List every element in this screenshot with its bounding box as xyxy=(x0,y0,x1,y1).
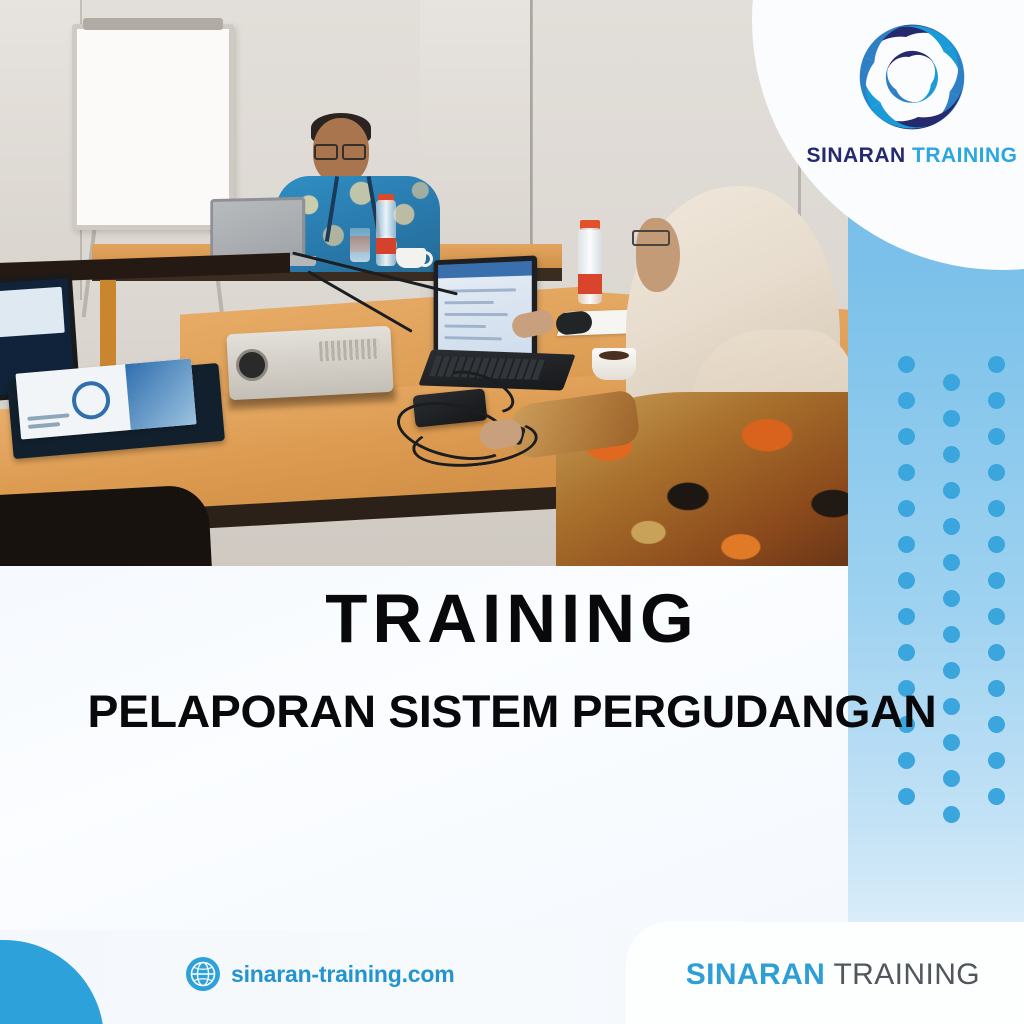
page-subtitle: PELAPORAN SISTEM PERGUDANGAN xyxy=(0,689,1024,734)
drinking-glass xyxy=(350,228,370,262)
globe-icon xyxy=(186,957,220,991)
decorative-dot xyxy=(988,464,1005,481)
page-title: TRAINING xyxy=(0,584,1024,653)
headline-block: TRAINING PELAPORAN SISTEM PERGUDANGAN xyxy=(0,566,1024,930)
laptop-screen-row-2 xyxy=(444,301,493,304)
decorative-dot xyxy=(943,410,960,427)
footer-bar: sinaran-training.com SINARAN TRAINING xyxy=(0,930,1024,1024)
decorative-dot xyxy=(943,446,960,463)
decorative-dot xyxy=(943,374,960,391)
foreground-dark-chair xyxy=(0,484,212,566)
decorative-dot xyxy=(943,518,960,535)
brochure-line-1 xyxy=(27,413,69,421)
blue-quarter-circle-decor xyxy=(0,940,104,1024)
flipchart-board xyxy=(72,24,234,230)
promotional-poster: SINARAN TRAINING TRAINING PELAPORAN SIST… xyxy=(0,0,1024,1024)
laptop-screen-row-4 xyxy=(444,325,486,328)
brochure-logo xyxy=(70,380,111,421)
footer-brand-part1: SINARAN xyxy=(686,958,825,991)
swirl-spiral-logo-icon xyxy=(847,12,977,142)
back-water-bottle xyxy=(376,200,396,266)
decorative-dot xyxy=(898,464,915,481)
laptop-screen-titlebar xyxy=(438,261,532,279)
decorative-dot xyxy=(988,500,1005,517)
wall-panel-left xyxy=(0,0,82,300)
decorative-dot xyxy=(898,500,915,517)
brand-name-part2: TRAINING xyxy=(912,144,1018,167)
decorative-dot xyxy=(943,482,960,499)
projector-lens xyxy=(235,348,269,382)
brand-name-part1: SINARAN xyxy=(806,144,905,167)
front-bottle-label xyxy=(578,274,602,294)
decorative-dot xyxy=(988,536,1005,553)
participant-man-glasses xyxy=(312,144,368,156)
participant-woman-glasses xyxy=(632,230,670,246)
laptop-screen-row-5 xyxy=(444,336,501,340)
footer-brand-part2: TRAINING xyxy=(833,958,980,991)
brochure-line-2 xyxy=(28,422,60,429)
footer-brand-logo[interactable]: SINARAN TRAINING xyxy=(686,958,980,992)
projector xyxy=(226,326,393,400)
back-laptop-screen xyxy=(210,197,305,261)
brand-logo-top-text: SINARAN TRAINING xyxy=(806,144,1018,168)
brochure-blue-band xyxy=(125,358,197,430)
back-bottle-label xyxy=(376,238,396,254)
decorative-dot xyxy=(898,392,915,409)
decorative-dot xyxy=(988,356,1005,373)
laptop-screen-row-3 xyxy=(444,313,507,316)
brand-logo-top[interactable]: SINARAN TRAINING xyxy=(806,12,1018,168)
decorative-dot xyxy=(898,356,915,373)
front-coffee-cup xyxy=(592,348,636,380)
website-link[interactable]: sinaran-training.com xyxy=(186,957,455,991)
projector-vent xyxy=(319,338,380,361)
website-url-text: sinaran-training.com xyxy=(231,961,455,988)
decorative-dot xyxy=(988,428,1005,445)
training-photo xyxy=(0,0,852,566)
decorative-dot xyxy=(898,428,915,445)
decorative-dot xyxy=(988,392,1005,409)
decorative-dot xyxy=(898,536,915,553)
back-coffee-cup xyxy=(396,248,426,268)
